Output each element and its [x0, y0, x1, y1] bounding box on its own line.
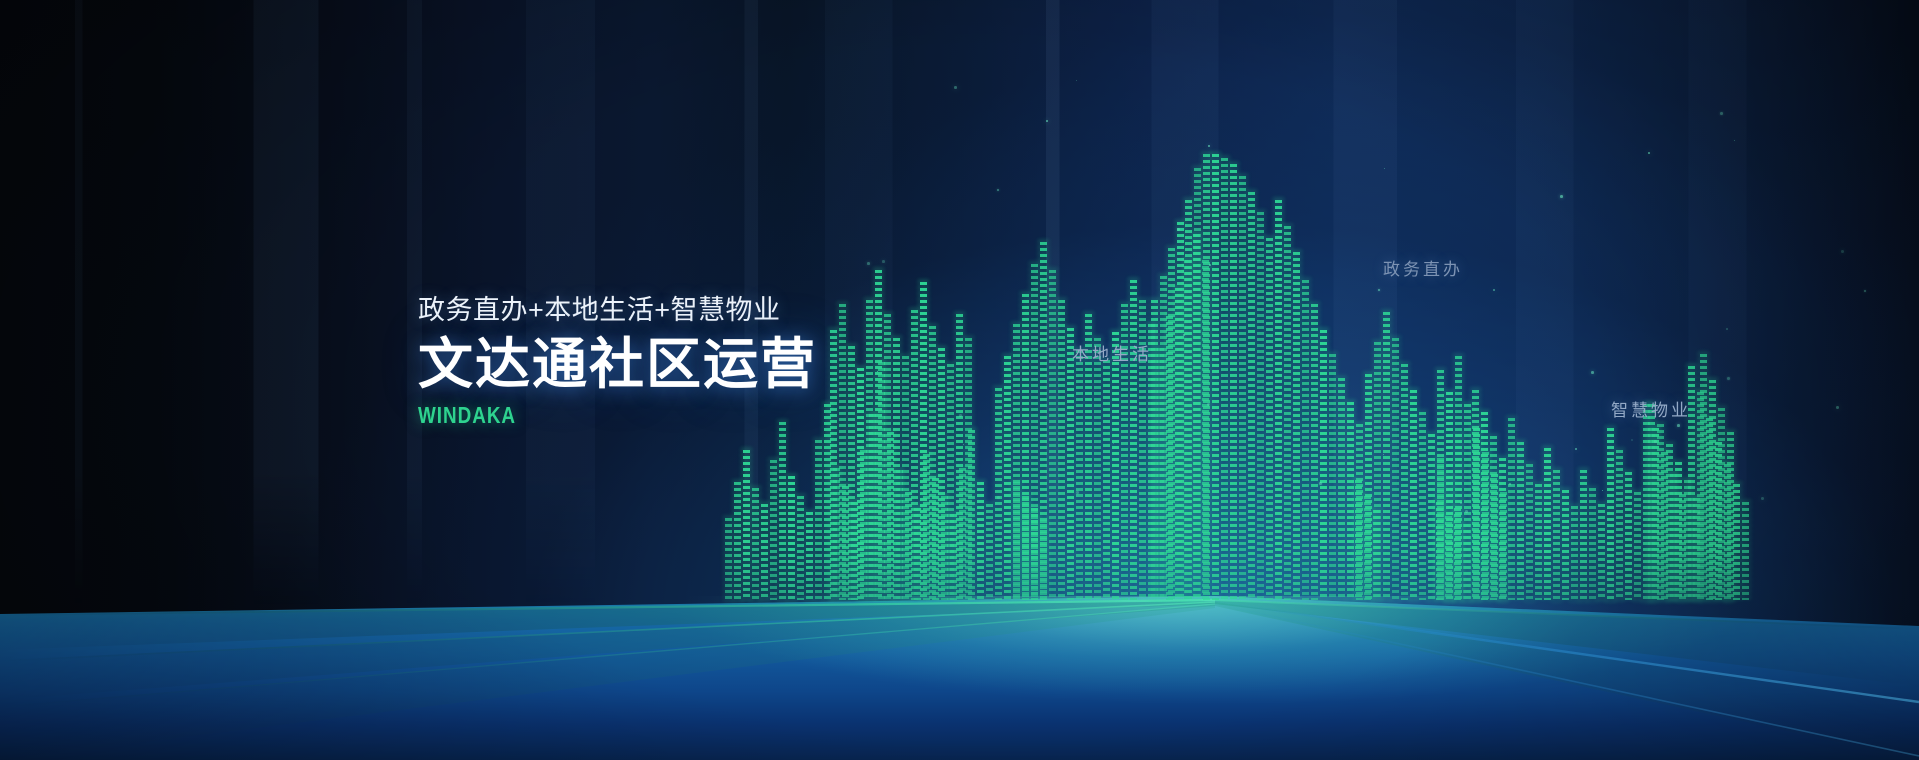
skyline-bar — [947, 364, 954, 600]
floating-label-2: 本地生活 — [1072, 340, 1152, 365]
skyline-bar — [1684, 480, 1691, 600]
skyline-bar — [1401, 364, 1408, 600]
skyline-bar — [1347, 402, 1354, 600]
skyline-bar — [1239, 176, 1246, 600]
skyline-bar — [1049, 270, 1056, 600]
skyline-bar — [929, 326, 936, 600]
skyline-bar — [857, 368, 864, 600]
skyline-bar — [1058, 300, 1065, 600]
skyline-bar — [1392, 338, 1399, 600]
skyline-bar — [902, 356, 909, 600]
skyline-bar — [806, 512, 813, 600]
brand-wordmark: WINDAKA — [418, 402, 745, 429]
skyline-bar — [914, 508, 921, 600]
skyline-bar — [896, 470, 903, 600]
skyline-bar — [1727, 432, 1734, 600]
skyline-bar — [1648, 404, 1655, 600]
skyline-bar — [1364, 496, 1371, 600]
skyline-bar — [1419, 412, 1426, 600]
skyline-bar — [1355, 480, 1362, 600]
skyline-bar — [1103, 360, 1110, 600]
skyline-bar — [968, 430, 975, 600]
skyline-bar — [1697, 392, 1704, 600]
skyline-bar — [1356, 424, 1363, 600]
skyline-bar — [1526, 464, 1533, 600]
skyline-bar — [824, 404, 831, 600]
skyline-bar — [1463, 524, 1470, 600]
skyline-bar — [1499, 458, 1506, 600]
skyline-bar — [1193, 234, 1200, 600]
skyline-bar — [1553, 470, 1560, 600]
skyline-bar — [1040, 242, 1047, 600]
skyline-bar — [1455, 356, 1462, 600]
skyline-bar — [1517, 442, 1524, 600]
skyline-bar — [1374, 342, 1381, 600]
skyline-bar — [1589, 488, 1596, 600]
skyline-bar — [1284, 226, 1291, 600]
skyline-bar — [1718, 408, 1725, 600]
skyline-bar — [1230, 164, 1237, 600]
skyline-bar — [1302, 280, 1309, 600]
skyline-bar — [1742, 502, 1749, 600]
skyline-bar — [842, 486, 849, 600]
skyline-bar — [884, 314, 891, 600]
skyline-bar — [941, 496, 948, 600]
skyline-bar — [1437, 458, 1444, 600]
skyline-bar — [1436, 502, 1443, 600]
skyline-bar — [1383, 312, 1390, 600]
skyline-bar — [1373, 510, 1380, 600]
hero-banner: 政务直办本地生活智慧物业 政务直办+本地生活+智慧物业 文达通社区运营 WIND… — [0, 0, 1919, 760]
skyline-bar — [1166, 316, 1173, 600]
skyline-bar — [1428, 434, 1435, 600]
skyline-bar — [1203, 154, 1210, 600]
skyline-bar — [725, 518, 732, 600]
skyline-bar — [1031, 508, 1038, 600]
skyline-bar — [1657, 424, 1664, 600]
skyline-bar — [1715, 442, 1722, 600]
skyline-bar — [1607, 428, 1614, 600]
skyline-bar — [1013, 324, 1020, 600]
hero-subtitle: 政务直办+本地生活+智慧物业 — [418, 294, 817, 328]
skyline-bar — [1679, 494, 1686, 600]
skyline-bar — [1365, 374, 1372, 600]
skyline-bar — [860, 450, 867, 600]
skyline-bar — [1185, 200, 1192, 600]
skyline-bar — [1329, 354, 1336, 600]
skyline-bar — [734, 482, 741, 600]
skyline-bar — [1112, 332, 1119, 600]
skyline-bar — [815, 440, 822, 600]
skyline-bar — [1004, 356, 1011, 600]
floating-label-3: 智慧物业 — [1611, 396, 1691, 421]
skyline-bar — [1168, 248, 1175, 600]
skyline-bar — [1022, 496, 1029, 600]
skyline-bar — [1544, 448, 1551, 600]
skyline-bar — [1202, 260, 1209, 600]
skyline-bar — [905, 492, 912, 600]
city-skyline-mask — [0, 0, 1919, 760]
skyline-bar — [1675, 462, 1682, 600]
skyline-bar — [752, 488, 759, 600]
skyline-bar — [1248, 192, 1255, 600]
skyline-bar — [1275, 200, 1282, 600]
skyline-bar — [1580, 470, 1587, 600]
skyline-bar — [1266, 238, 1273, 600]
skyline-bar — [1709, 380, 1716, 600]
skyline-bar — [869, 414, 876, 600]
skyline-bar — [1212, 154, 1219, 600]
skyline-bar — [1598, 504, 1605, 600]
skyline-bar — [1446, 476, 1453, 600]
skyline-bar — [1634, 492, 1641, 600]
skyline-bar — [743, 450, 750, 600]
skyline-bar — [788, 476, 795, 600]
skyline-bar — [1616, 450, 1623, 600]
skyline-bar — [1670, 474, 1677, 600]
skyline-bar — [1706, 418, 1713, 600]
skyline-bar — [923, 454, 930, 600]
skyline-bar — [1311, 304, 1318, 600]
skyline-bar — [1491, 474, 1498, 600]
skyline-bar — [1473, 428, 1480, 600]
skyline-bar — [1446, 392, 1453, 600]
skyline-bar — [1067, 328, 1074, 600]
skyline-bar — [1700, 354, 1707, 600]
skyline-bar — [1031, 264, 1038, 600]
skyline-bar — [986, 504, 993, 600]
skyline-bar — [1022, 294, 1029, 600]
skyline-bar — [932, 478, 939, 600]
skyline-bar — [1455, 434, 1462, 600]
skyline-bar — [1490, 436, 1497, 600]
skyline-bar — [1666, 444, 1673, 600]
skyline-bar — [1151, 300, 1158, 600]
skyline-bar — [1445, 516, 1452, 600]
skyline-bar — [959, 468, 966, 600]
skyline-bar — [848, 346, 855, 600]
skyline-bar — [1076, 350, 1083, 600]
skyline-bar — [1437, 370, 1444, 600]
skyline-bar — [797, 496, 804, 600]
skyline-bar — [1194, 168, 1201, 600]
skyline-bar — [1177, 222, 1184, 600]
skyline-bar — [995, 388, 1002, 600]
skyline-bar — [887, 432, 894, 600]
skyline-bar — [1184, 260, 1191, 600]
skyline-bar — [977, 482, 984, 600]
skyline-bar — [920, 282, 927, 600]
skyline-bar — [851, 502, 858, 600]
skyline-bar — [839, 304, 846, 600]
floating-label-1: 政务直办 — [1383, 255, 1463, 280]
skyline-bar — [1464, 404, 1471, 600]
skyline-bar — [1643, 404, 1650, 600]
skyline-bar — [1481, 412, 1488, 600]
skyline-bar — [965, 338, 972, 600]
skyline-bar — [1040, 520, 1047, 600]
skyline-bar — [833, 468, 840, 600]
skyline-bar — [761, 504, 768, 600]
skyline-bar — [1500, 492, 1507, 600]
skyline-bar — [938, 348, 945, 600]
skyline-bar — [866, 300, 873, 600]
city-skyline-chart — [0, 0, 1919, 760]
hero-copy: 政务直办+本地生活+智慧物业 文达通社区运营 WINDAKA — [418, 294, 817, 429]
skyline-bar — [878, 362, 885, 600]
skyline-bar — [911, 310, 918, 600]
skyline-bar — [1724, 464, 1731, 600]
skyline-bar — [893, 338, 900, 600]
skyline-bar — [1094, 338, 1101, 600]
skyline-bar — [1652, 428, 1659, 600]
skyline-bar — [1562, 490, 1569, 600]
skyline-bar — [1693, 498, 1700, 600]
skyline-bar — [1293, 252, 1300, 600]
skyline-bar — [770, 460, 777, 600]
skyline-bar — [1160, 276, 1167, 600]
skyline-bar — [1571, 506, 1578, 600]
skyline-bar — [1661, 452, 1668, 600]
skyline-bar — [1013, 482, 1020, 600]
skyline-bar — [1257, 212, 1264, 600]
skyline-bar — [1221, 158, 1228, 600]
skyline-bar — [1175, 288, 1182, 600]
skyline-bar — [1625, 472, 1632, 600]
skyline-bar — [875, 270, 882, 600]
skyline-bar — [1320, 330, 1327, 600]
skyline-bar — [1148, 324, 1155, 600]
skyline-bar — [1472, 390, 1479, 600]
skyline-bar — [956, 314, 963, 600]
skyline-bar — [1338, 378, 1345, 600]
skyline-bar — [1410, 390, 1417, 600]
skyline-bar — [950, 514, 957, 600]
skyline-bar — [830, 330, 837, 600]
skyline-bar — [1508, 418, 1515, 600]
hero-title: 文达通社区运营 — [418, 334, 817, 395]
skyline-bar — [1157, 348, 1164, 600]
skyline-bar — [1482, 452, 1489, 600]
skyline-bar — [1733, 484, 1740, 600]
skyline-bar — [779, 422, 786, 600]
skyline-bar — [1130, 280, 1137, 600]
skyline-bar — [1535, 484, 1542, 600]
skyline-bar — [1454, 508, 1461, 600]
